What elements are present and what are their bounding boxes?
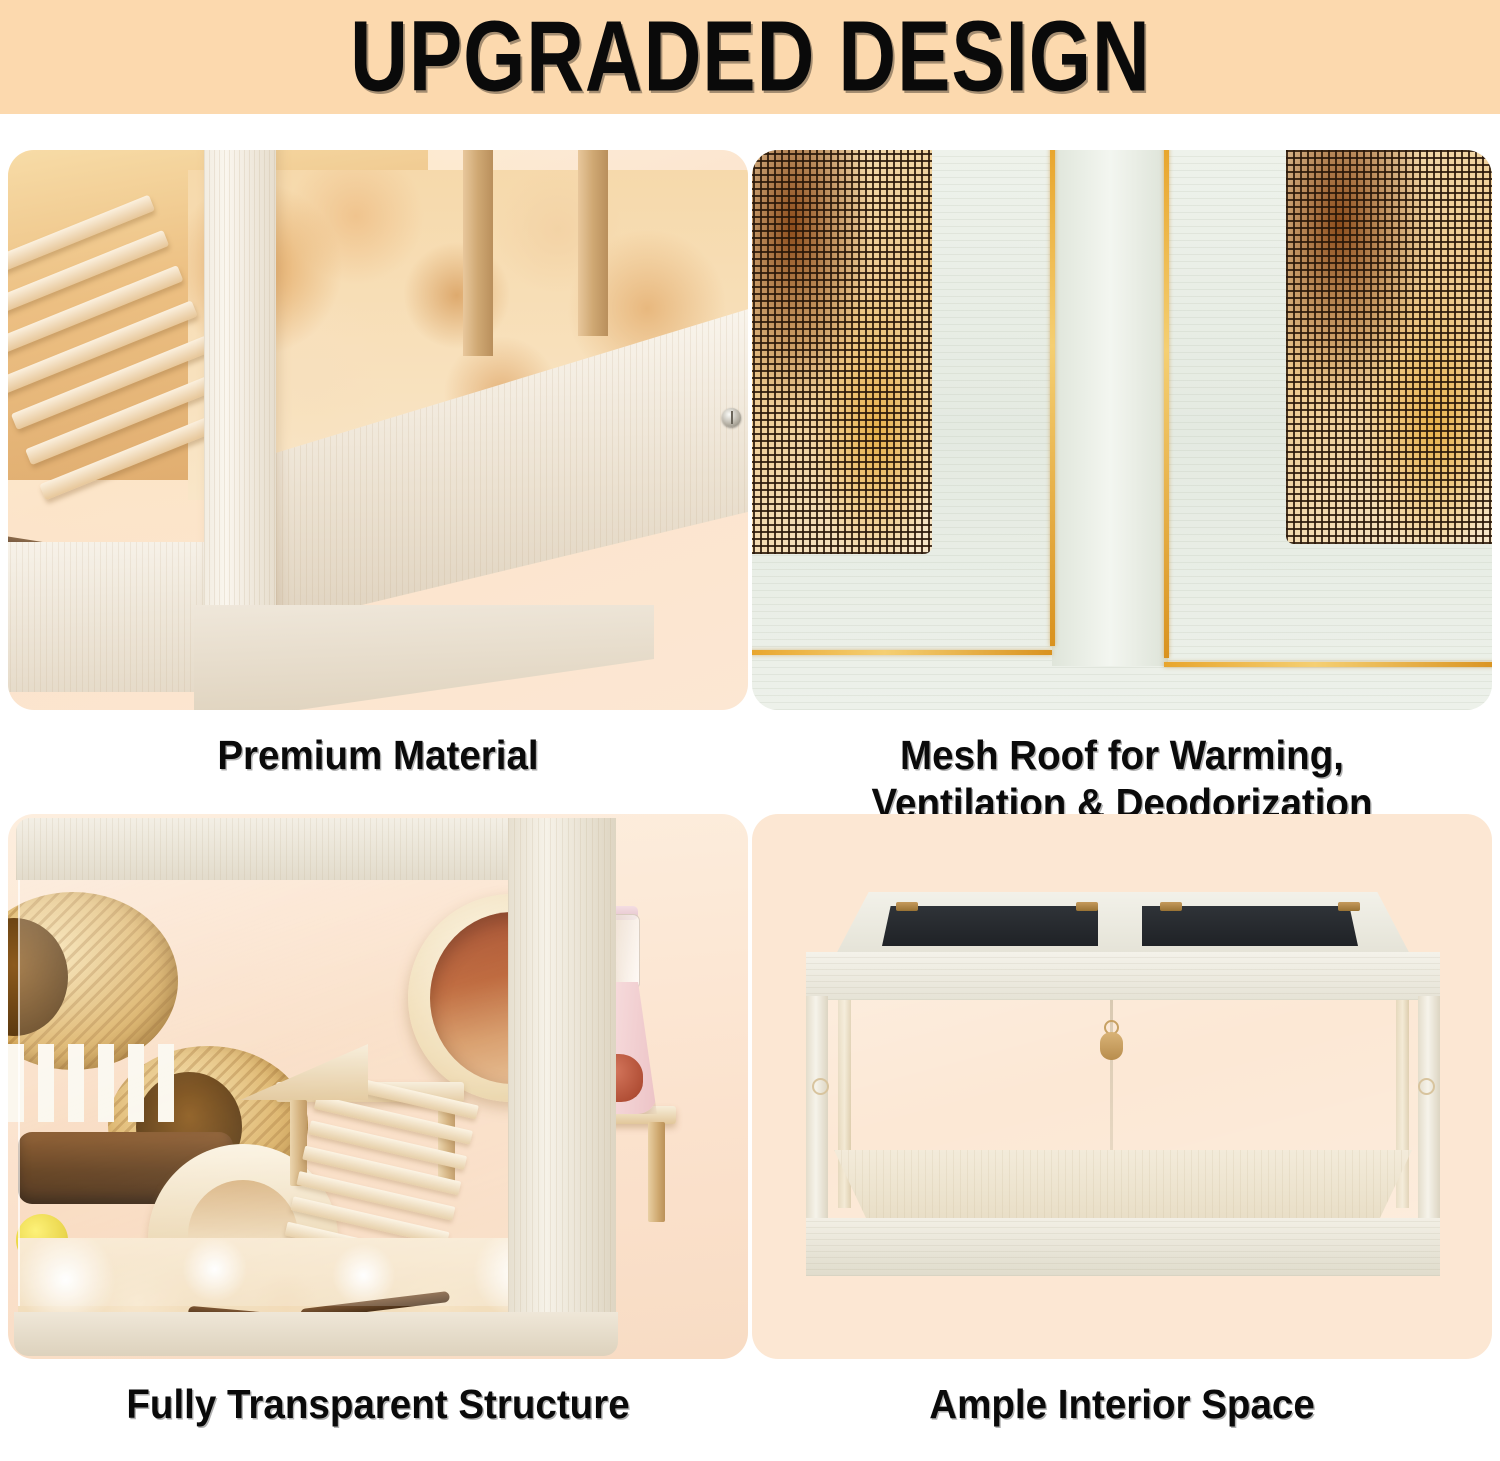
- bottle-shelf-leg: [648, 1122, 665, 1222]
- hinge-icon: [1338, 902, 1360, 911]
- cage-foot-rail: [194, 605, 654, 710]
- cage-right-post: [508, 818, 616, 1338]
- caption-line: Mesh Roof for Warming,: [774, 732, 1470, 780]
- cage-assembly: [790, 892, 1454, 1292]
- cage-floor-rail: [14, 1312, 618, 1356]
- roof-seam-left: [1050, 150, 1055, 646]
- cage-post-front-right: [1418, 996, 1440, 1226]
- wooden-post-2: [578, 150, 608, 336]
- door-handle[interactable]: [1100, 1032, 1123, 1060]
- header-banner: UPGRADED DESIGN: [0, 0, 1500, 114]
- caption-interior-space: Ample Interior Space: [774, 1359, 1470, 1429]
- roof-mesh-hatch-left: [882, 906, 1098, 946]
- photo-premium-material: [8, 150, 748, 710]
- caption-line: Premium Material: [30, 732, 726, 780]
- feature-grid: Premium Material Mesh Roof for Warming, …: [0, 114, 1500, 1461]
- page-title: UPGRADED DESIGN: [350, 0, 1151, 114]
- cage-top-rail: [806, 952, 1440, 1000]
- hinge-icon: [1160, 902, 1182, 911]
- side-vent-hole: [1418, 1078, 1435, 1095]
- feature-cell-interior-space: Ample Interior Space: [752, 814, 1494, 1429]
- roof-mesh-hatch-right: [1142, 906, 1358, 946]
- hinge-icon: [896, 902, 918, 911]
- side-vent-hole: [812, 1078, 829, 1095]
- feature-cell-transparent-structure: Fully Transparent Structure: [8, 814, 750, 1429]
- caption-mesh-roof: Mesh Roof for Warming, Ventilation & Deo…: [774, 710, 1470, 827]
- acrylic-front-panel: [18, 876, 514, 1306]
- roof-seam-bottom-left: [752, 650, 1052, 655]
- mesh-panel-right: [1286, 150, 1492, 544]
- photo-mesh-roof: [752, 150, 1492, 710]
- feature-cell-mesh-roof: Mesh Roof for Warming, Ventilation & Deo…: [752, 150, 1494, 827]
- caption-premium-material: Premium Material: [30, 710, 726, 780]
- roof-seam-right: [1164, 150, 1169, 658]
- feature-cell-premium-material: Premium Material: [8, 150, 750, 780]
- photo-transparent-structure: [8, 814, 748, 1359]
- cage-post-front-left: [806, 996, 828, 1226]
- cage-base-rail: [806, 1218, 1440, 1276]
- mesh-panel-left: [752, 150, 932, 554]
- cage-top-rail: [16, 818, 536, 880]
- photo-interior-space: [752, 814, 1492, 1359]
- screw-icon: [722, 408, 741, 427]
- roof-seam-bottom-right: [1164, 662, 1492, 667]
- roof-rail-center: [1052, 150, 1168, 666]
- caption-line: Ample Interior Space: [774, 1381, 1470, 1429]
- caption-line: Fully Transparent Structure: [30, 1381, 726, 1429]
- hinge-icon: [1076, 902, 1098, 911]
- caption-transparent-structure: Fully Transparent Structure: [30, 1359, 726, 1429]
- wooden-post-1: [463, 150, 493, 356]
